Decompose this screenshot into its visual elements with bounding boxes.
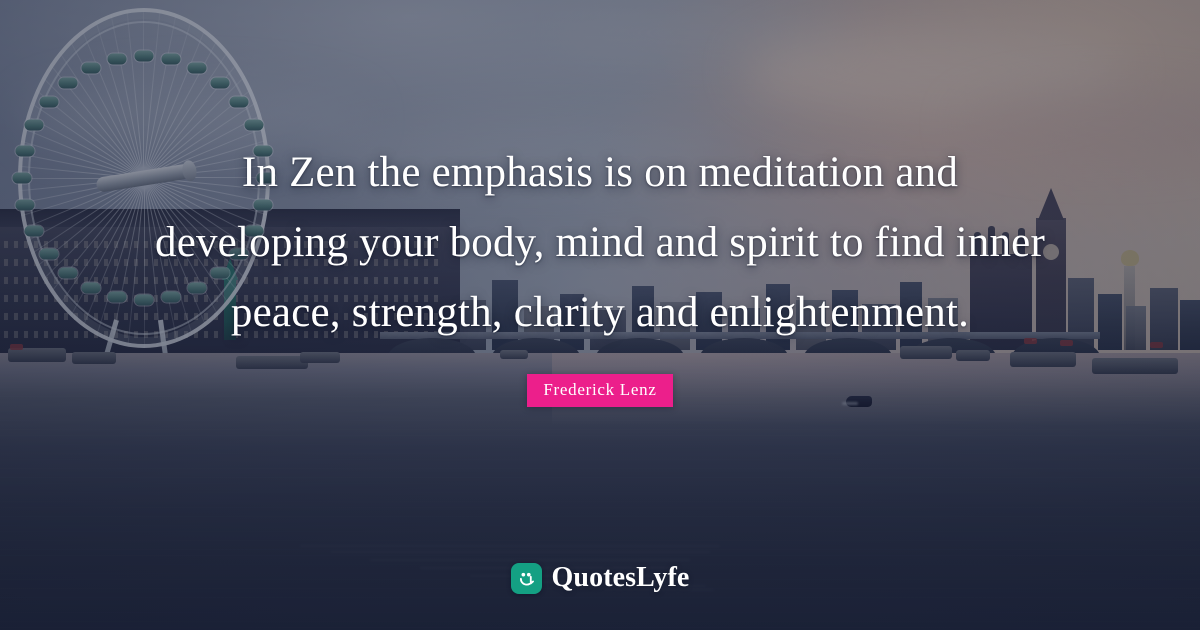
quote-card: In Zen the emphasis is on meditation and… xyxy=(0,0,1200,630)
brand-watermark[interactable]: QuotesLyfe xyxy=(0,562,1200,594)
quote-text: In Zen the emphasis is on meditation and… xyxy=(150,138,1050,348)
brand-name: QuotesLyfe xyxy=(552,562,690,594)
card-content: In Zen the emphasis is on meditation and… xyxy=(0,0,1200,630)
author-attribution: Frederick Lenz xyxy=(527,374,672,407)
author-badge[interactable]: Frederick Lenz xyxy=(527,374,672,407)
quotes-smiley-icon xyxy=(511,563,542,594)
